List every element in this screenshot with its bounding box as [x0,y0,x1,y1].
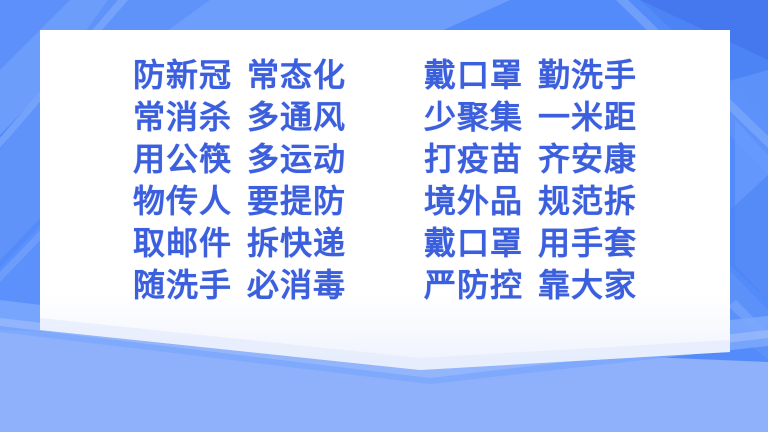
slogan-segment-first: 常消杀 [133,97,232,137]
slogan-line: 打疫苗 齐安康 [424,139,637,179]
slogan-line: 境外品 规范拆 [424,181,637,221]
slogan-segment-second: 常态化 [247,55,346,95]
slogan-line: 随洗手 必消毒 [133,265,346,305]
slogan-line: 戴口罩 用手套 [424,223,637,263]
slogan-segment-second: 一米距 [538,97,637,137]
slogan-segment-second: 用手套 [538,223,637,263]
slogan-segment-second: 勤洗手 [538,55,637,95]
slogan-segment-second: 必消毒 [247,265,346,305]
slogan-line: 防新冠 常态化 [133,55,346,95]
slogan-line: 物传人 要提防 [133,181,346,221]
slogan-segment-first: 取邮件 [133,223,232,263]
slogan-segment-second: 拆快递 [247,223,346,263]
slogan-segment-second: 靠大家 [538,265,637,305]
slogan-line: 用公筷 多运动 [133,139,346,179]
slogan-line: 取邮件 拆快递 [133,223,346,263]
slogan-block: 防新冠 常态化 常消杀 多通风 用公筷 多运动 物传人 要提防 取邮件 拆快递 … [40,30,730,330]
slogan-segment-first: 戴口罩 [424,223,523,263]
slogan-segment-second: 多运动 [247,139,346,179]
slogan-segment-first: 打疫苗 [424,139,523,179]
slogan-line: 严防控 靠大家 [424,265,637,305]
slogan-line: 戴口罩 勤洗手 [424,55,637,95]
slogan-segment-second: 多通风 [247,97,346,137]
slogan-segment-second: 齐安康 [538,139,637,179]
slogan-line: 常消杀 多通风 [133,97,346,137]
slogan-segment-first: 境外品 [424,181,523,221]
slogan-segment-first: 严防控 [424,265,523,305]
slogan-column-left: 防新冠 常态化 常消杀 多通风 用公筷 多运动 物传人 要提防 取邮件 拆快递 … [133,55,346,305]
slogan-segment-first: 戴口罩 [424,55,523,95]
slogan-segment-first: 防新冠 [133,55,232,95]
slogan-segment-first: 用公筷 [133,139,232,179]
slogan-column-right: 戴口罩 勤洗手 少聚集 一米距 打疫苗 齐安康 境外品 规范拆 戴口罩 用手套 … [424,55,637,305]
slogan-segment-second: 规范拆 [538,181,637,221]
slogan-segment-first: 随洗手 [133,265,232,305]
poster-canvas: 防新冠 常态化 常消杀 多通风 用公筷 多运动 物传人 要提防 取邮件 拆快递 … [0,0,768,432]
slogan-line: 少聚集 一米距 [424,97,637,137]
slogan-segment-second: 要提防 [247,181,346,221]
slogan-segment-first: 物传人 [133,181,232,221]
slogan-segment-first: 少聚集 [424,97,523,137]
